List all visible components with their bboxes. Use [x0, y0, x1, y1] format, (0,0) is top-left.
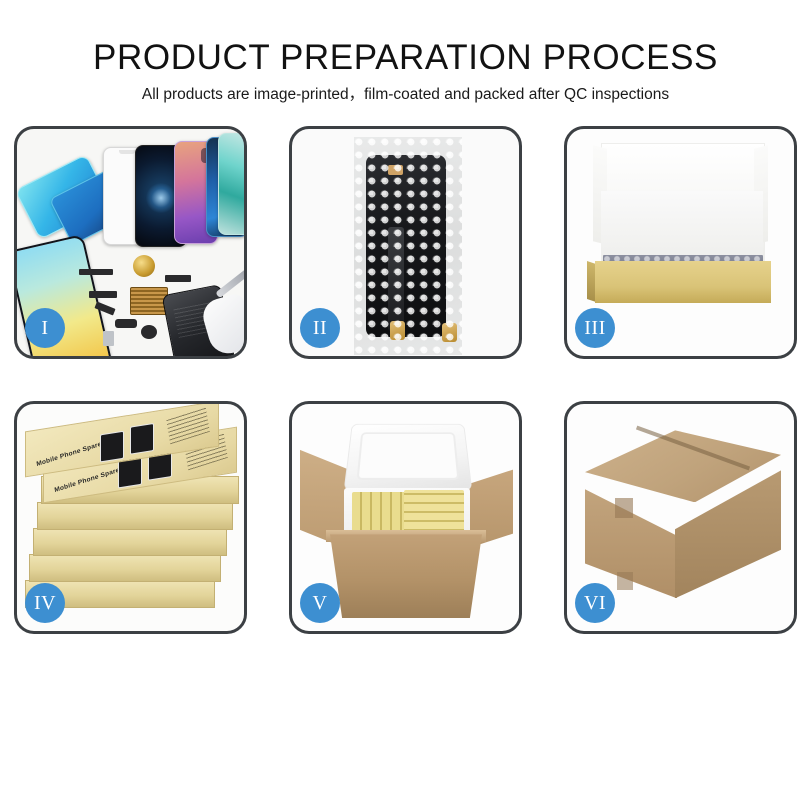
bubble-wrap-bag: [354, 137, 462, 355]
step-card-2: II: [289, 126, 522, 359]
box-spec-lines-1: [166, 407, 210, 445]
page-title: PRODUCT PREPARATION PROCESS: [0, 40, 811, 77]
foam-lid-inner-rim: [357, 433, 460, 481]
foam-box-lid: [344, 424, 473, 491]
box-artwork-screen-b1: [130, 423, 154, 455]
teal-gradient-phone: [218, 133, 244, 235]
part-camera-ring: [141, 325, 157, 339]
step-card-6: VI: [564, 401, 797, 634]
wallpaper-burst: [146, 183, 176, 213]
carton-tape-upper: [615, 498, 633, 518]
part-gold-coil: [133, 255, 155, 277]
step-card-3: III: [564, 126, 797, 359]
notch: [119, 150, 135, 154]
carton-front-panel: [330, 534, 482, 618]
process-steps-grid: I II III: [14, 126, 797, 634]
stacked-box-5: [29, 554, 221, 582]
white-inner-card: [601, 191, 763, 257]
part-speaker-mesh: [79, 269, 113, 275]
part-sim-tray: [103, 331, 114, 346]
bubble-texture: [354, 137, 462, 355]
page-subtitle: All products are image-printed，film-coat…: [0, 86, 811, 105]
kraft-box-tray: [595, 261, 771, 303]
tweezers-tool: [215, 267, 244, 298]
step-card-4: Mobile Phone Spare Parts Mobile Phone Sp…: [14, 401, 247, 634]
carton-tape-lower: [617, 572, 633, 590]
part-connector-strip: [165, 275, 191, 282]
page-header: PRODUCT PREPARATION PROCESS All products…: [0, 0, 811, 104]
step-card-5: V: [289, 401, 522, 634]
stacked-box-4: [33, 528, 227, 556]
stacked-box-3: [37, 502, 233, 530]
part-flex-cable-a: [89, 291, 117, 298]
box-artwork-screen-a1: [100, 431, 124, 463]
step-card-1: I: [14, 126, 247, 359]
part-module: [115, 319, 137, 328]
